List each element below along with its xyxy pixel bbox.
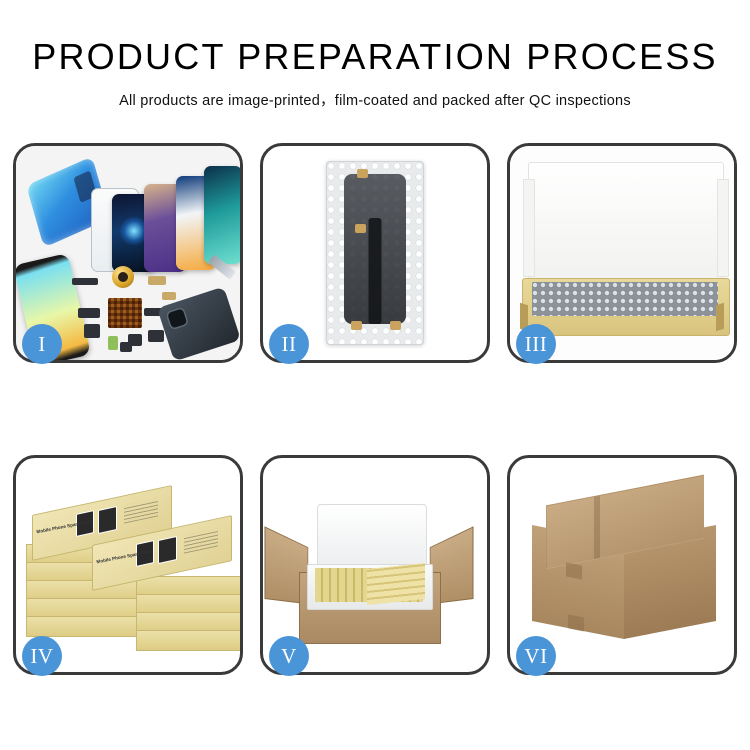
stacked-box-edge: [26, 616, 146, 637]
spare-part: [162, 292, 176, 300]
foam-lid-graphic: [317, 504, 427, 568]
box-print-phone: [158, 536, 177, 564]
step-badge-5: V: [269, 636, 309, 676]
stacked-box-edge: [136, 630, 240, 651]
spare-part: [148, 276, 166, 285]
screen-flex-cable-graphic: [369, 218, 382, 324]
bubble-wrap-bag-graphic: [326, 161, 424, 345]
step-badge-2: II: [269, 324, 309, 364]
yellow-boxes-inside: [367, 563, 425, 605]
chip-grid-part: [108, 298, 142, 328]
spare-part: [120, 342, 132, 352]
page-title: PRODUCT PREPARATION PROCESS: [0, 38, 750, 76]
step-badge-3: III: [516, 324, 556, 364]
process-step-panel-5: V: [260, 455, 490, 675]
box-print-phone: [98, 506, 117, 534]
sealed-carton-graphic: [532, 490, 716, 642]
process-step-panel-2: II: [260, 143, 490, 363]
process-step-panel-4: Mobile Phone Spare Parts Mobile Phone Sp…: [13, 455, 243, 675]
carton-tape-tab: [568, 614, 584, 631]
page-header: PRODUCT PREPARATION PROCESS All products…: [0, 0, 750, 110]
stacked-boxes-graphic: Mobile Phone Spare Parts Mobile Phone Sp…: [24, 472, 236, 664]
tape-piece: [351, 321, 362, 330]
tape-piece: [390, 321, 401, 330]
step-badge-1: I: [22, 324, 62, 364]
process-step-panel-3: III: [507, 143, 737, 363]
process-step-panel-6: VI: [507, 455, 737, 675]
step-badge-6: VI: [516, 636, 556, 676]
spare-part: [148, 330, 164, 342]
camera-ring-part: [112, 266, 134, 288]
spare-part: [72, 278, 98, 285]
box-corner: [716, 303, 724, 332]
page-subtitle: All products are image-printed，film-coat…: [0, 89, 750, 110]
step-badge-4: IV: [22, 636, 62, 676]
white-box-lid-graphic: [528, 162, 724, 286]
spare-part: [108, 336, 118, 350]
bubble-wrapped-contents-graphic: [532, 282, 718, 316]
spare-part: [78, 308, 100, 318]
tape-piece: [357, 169, 368, 178]
tape-piece: [355, 224, 366, 233]
carton-tape-tab: [566, 562, 582, 579]
process-step-grid: I II III: [13, 143, 737, 675]
open-carton-graphic: [289, 520, 449, 642]
spare-part: [84, 324, 100, 338]
process-step-panel-1: I: [13, 143, 243, 363]
phone-teal-graphic: [204, 166, 240, 264]
